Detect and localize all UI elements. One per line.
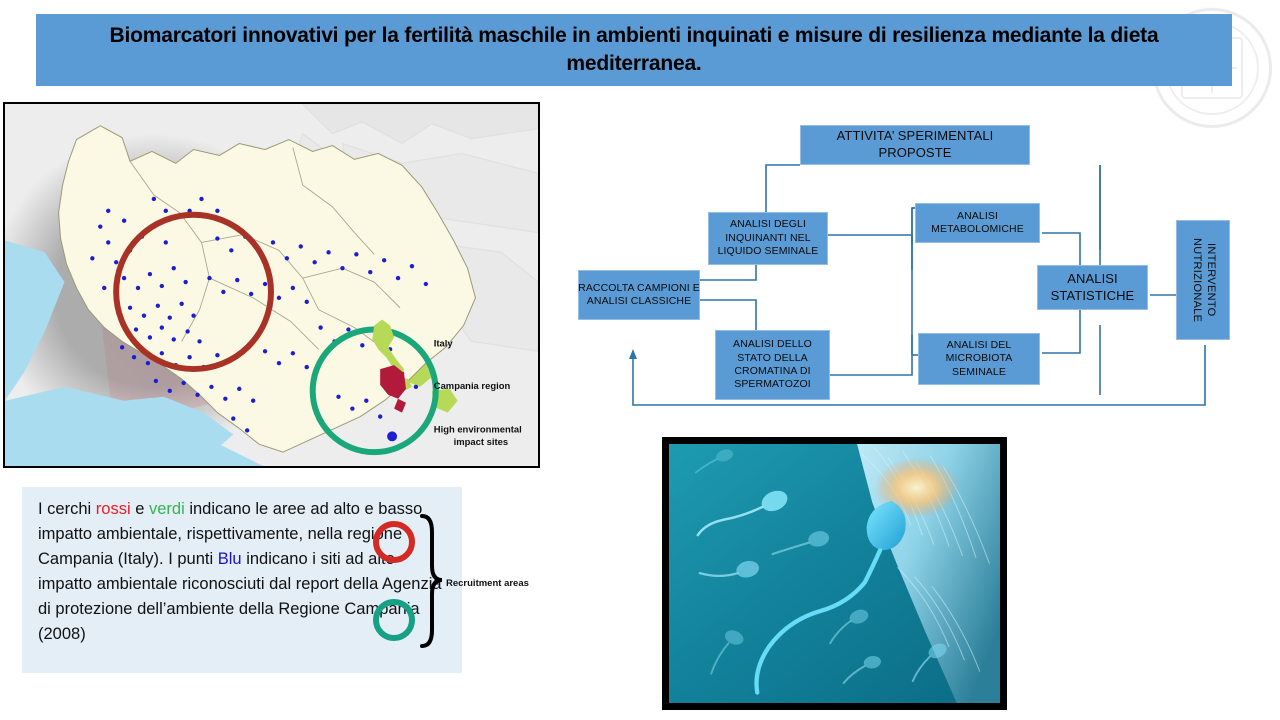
- flow-box-intervento-label: INTERVENTO NUTRIZIONALE: [1189, 220, 1217, 340]
- fertilization-graphic: [669, 444, 1000, 703]
- flow-box-attivita-label: ATTIVITA’ SPERIMENTALI PROPOSTE: [800, 128, 1030, 161]
- legend-circle-red: [376, 524, 412, 560]
- flow-box-raccolta[interactable]: RACCOLTA CAMPIONI E ANALISI CLASSICHE: [578, 270, 700, 320]
- flow-box-attivita[interactable]: ATTIVITA’ SPERIMENTALI PROPOSTE: [800, 125, 1030, 165]
- flow-box-inquinanti-label: ANALISI DEGLI INQUINANTI NEL LIQUIDO SEM…: [708, 218, 828, 258]
- flow-box-intervento[interactable]: INTERVENTO NUTRIZIONALE: [1176, 220, 1230, 340]
- flow-box-cromatina[interactable]: ANALISI DELLO STATO DELLA CROMATINA DI S…: [715, 330, 830, 400]
- caption-seg-2: e: [131, 500, 149, 518]
- legend-circle-green: [376, 602, 412, 638]
- caption-seg-rossi: rossi: [96, 500, 131, 518]
- flow-box-microbiota[interactable]: ANALISI DEL MICROBIOTA SEMINALE: [918, 333, 1040, 385]
- experimental-activities-flowchart: ATTIVITA’ SPERIMENTALI PROPOSTE RACCOLTA…: [560, 105, 1260, 430]
- caption-seg-blu: Blu: [218, 550, 242, 568]
- flow-box-statistiche-label: ANALISI STATISTICHE: [1037, 271, 1148, 304]
- legend-recruitment-symbols: [3, 102, 540, 468]
- page-title: Biomarcatori innovativi per la fertilità…: [54, 22, 1214, 79]
- flow-box-microbiota-label: ANALISI DEL MICROBIOTA SEMINALE: [918, 339, 1040, 379]
- slide-canvas: Biomarcatori innovativi per la fertilità…: [0, 0, 1280, 720]
- flow-box-inquinanti[interactable]: ANALISI DEGLI INQUINANTI NEL LIQUIDO SEM…: [708, 212, 828, 265]
- legend-label-recruitment: Recruitment areas: [446, 578, 529, 589]
- caption-seg-verdi: verdi: [149, 500, 185, 518]
- feedback-arrow-head: [629, 349, 637, 359]
- flow-box-metabolomiche-label: ANALISI METABOLOMICHE: [915, 210, 1040, 237]
- fertilization-illustration: [662, 437, 1007, 710]
- flow-box-metabolomiche[interactable]: ANALISI METABOLOMICHE: [915, 203, 1040, 243]
- caption-seg-0: I cerchi: [38, 500, 96, 518]
- flow-box-cromatina-label: ANALISI DELLO STATO DELLA CROMATINA DI S…: [715, 338, 830, 392]
- flow-box-raccolta-label: RACCOLTA CAMPIONI E ANALISI CLASSICHE: [578, 282, 700, 309]
- legend-brace: [422, 516, 442, 646]
- legend-recruitment-areas: Recruitment areas: [368, 510, 538, 662]
- slide-title-bar: Biomarcatori innovativi per la fertilità…: [36, 14, 1232, 86]
- flow-box-statistiche[interactable]: ANALISI STATISTICHE: [1037, 265, 1148, 310]
